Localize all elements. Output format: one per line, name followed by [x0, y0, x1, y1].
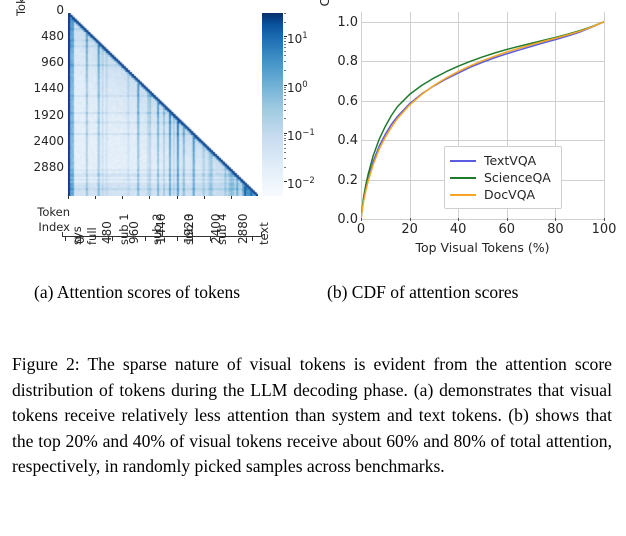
- segment-label: text: [257, 222, 271, 245]
- figure-caption: Figure 2: The sparse nature of visual to…: [12, 352, 612, 480]
- cdf-x-tick: 60: [487, 222, 527, 237]
- colorbar-tick-mark: [284, 133, 287, 134]
- cdf-y-tick: 1.0: [337, 17, 358, 28]
- colorbar-minor-tick: [284, 92, 286, 93]
- cdf-y-tick: 0.6: [337, 96, 358, 107]
- heatmap-x-tick-mark: [231, 196, 232, 199]
- cdf-x-tick-mark: [361, 218, 362, 221]
- colorbar-minor-tick: [284, 118, 286, 119]
- colorbar-minor-tick: [284, 61, 286, 62]
- colorbar-minor-tick: [284, 87, 286, 88]
- segment-label: sub 2: [150, 213, 164, 245]
- figure-2: Token Index 04809601440192024002880 0480…: [0, 0, 626, 536]
- heatmap-y-tick-labels: 04809601440192024002880: [22, 8, 64, 198]
- cdf-x-tick: 80: [535, 222, 575, 237]
- colorbar-minor-tick: [284, 148, 286, 149]
- colorbar-minor-tick: [284, 99, 286, 100]
- attention-heatmap-canvas: [68, 13, 258, 196]
- cdf-x-tick-mark: [507, 218, 508, 221]
- colorbar-minor-tick: [284, 70, 286, 71]
- colorbar-minor-tick: [284, 38, 286, 39]
- cdf-x-tick-labels: 020406080100: [342, 222, 622, 242]
- attention-heatmap: [68, 13, 258, 196]
- segment-label: sub 4: [215, 213, 229, 245]
- colorbar-minor-tick: [284, 138, 286, 139]
- colorbar-tick: 10−2: [287, 176, 315, 190]
- segment-label: sub 1: [117, 213, 131, 245]
- segment-axis-endcap: [261, 232, 262, 237]
- subcaptions: (a) Attention scores of tokens (b) CDF o…: [0, 282, 626, 308]
- colorbar-minor-tick: [284, 13, 286, 14]
- heatmap-y-tick: 2400: [33, 136, 64, 146]
- cdf-x-tick-mark: [410, 218, 411, 221]
- heatmap-x-tick-mark: [68, 196, 69, 199]
- colorbar-minor-tick: [284, 51, 286, 52]
- heatmap-segment-axis: sysfullsub 1sub 2sub 3sub 4text: [62, 236, 262, 282]
- legend-label: TextVQA: [484, 153, 536, 168]
- segment-tick-mark: [145, 236, 146, 241]
- heatmap-y-tick: 960: [41, 57, 64, 67]
- heatmap-y-tick: 1920: [33, 110, 64, 120]
- figure-panels: Token Index 04809601440192024002880 0480…: [0, 0, 626, 282]
- cdf-x-tick: 100: [584, 222, 624, 237]
- heatmap-x-axis-label: TokenIndex: [24, 205, 70, 235]
- colorbar-minor-tick: [284, 44, 286, 45]
- segment-tick-mark: [252, 236, 253, 241]
- cdf-x-axis-label: Top Visual Tokens (%): [361, 240, 604, 255]
- colorbar-minor-tick: [284, 110, 286, 111]
- cdf-gridline-vertical: [604, 12, 605, 219]
- panel-b-cdf-plot: Cumulative Attention 0.00.20.40.60.81.0 …: [312, 0, 626, 282]
- legend-color-swatch: [450, 194, 476, 196]
- cdf-x-tick: 0: [341, 222, 381, 237]
- heatmap-y-tick: 1440: [33, 83, 64, 93]
- colorbar-tick: 10−1: [287, 128, 315, 142]
- heatmap-x-tick-mark: [122, 196, 123, 199]
- subcaption-a: (a) Attention scores of tokens: [34, 282, 240, 303]
- cdf-y-tick: 0.4: [337, 135, 358, 146]
- colorbar-minor-tick: [284, 144, 286, 145]
- cdf-x-tick-mark: [458, 218, 459, 221]
- heatmap-x-tick-mark: [177, 196, 178, 199]
- cdf-x-tick-mark: [555, 218, 556, 221]
- colorbar-minor-tick: [284, 41, 286, 42]
- segment-axis-endcap: [62, 232, 63, 237]
- colorbar-tick-mark: [284, 85, 287, 86]
- colorbar-minor-tick: [284, 47, 286, 48]
- colorbar-tick-mark: [284, 36, 287, 37]
- colorbar-minor-tick: [284, 95, 286, 96]
- colorbar-minor-tick: [284, 89, 286, 90]
- cdf-legend[interactable]: TextVQAScienceQADocVQA: [444, 146, 562, 209]
- colorbar-gradient: [262, 13, 283, 196]
- subcaption-b: (b) CDF of attention scores: [327, 282, 519, 303]
- legend-item-docvqa[interactable]: DocVQA: [450, 186, 555, 203]
- legend-label: DocVQA: [484, 187, 535, 202]
- legend-color-swatch: [450, 160, 476, 162]
- cdf-x-tick-mark: [604, 218, 605, 221]
- segment-tick-mark: [112, 236, 113, 241]
- segment-label: sub 3: [182, 213, 196, 245]
- colorbar-minor-tick: [284, 167, 286, 168]
- colorbar-minor-tick: [284, 135, 286, 136]
- segment-label: full: [85, 227, 99, 245]
- panel-a-attention-heatmap: Token Index 04809601440192024002880 0480…: [0, 0, 312, 282]
- colorbar-tick: 101: [287, 31, 308, 45]
- colorbar-minor-tick: [284, 104, 286, 105]
- colorbar-tick-mark: [284, 181, 287, 182]
- legend-color-swatch: [450, 177, 476, 179]
- cdf-y-tick: 0.8: [337, 56, 358, 67]
- segment-tick-mark: [80, 236, 81, 241]
- cdf-y-tick-labels: 0.00.20.40.60.81.0: [318, 4, 358, 229]
- legend-label: ScienceQA: [484, 170, 551, 185]
- cdf-y-tick: 0.2: [337, 175, 358, 186]
- heatmap-x-tick-mark: [95, 196, 96, 199]
- colorbar-minor-tick: [284, 55, 286, 56]
- segment-tick-mark: [65, 236, 66, 241]
- heatmap-x-tick-mark: [204, 196, 205, 199]
- colorbar-minor-tick: [284, 22, 286, 23]
- colorbar-minor-tick: [284, 140, 286, 141]
- heatmap-y-tick: 0: [56, 5, 64, 15]
- segment-tick-mark: [177, 236, 178, 241]
- legend-item-scienceqa[interactable]: ScienceQA: [450, 169, 555, 186]
- legend-item-textvqa[interactable]: TextVQA: [450, 152, 555, 169]
- heatmap-y-tick: 480: [41, 31, 64, 41]
- segment-label: sys: [70, 226, 84, 245]
- segment-tick-mark: [210, 236, 211, 241]
- colorbar-tick: 100: [287, 80, 308, 94]
- heatmap-x-tick-mark: [149, 196, 150, 199]
- cdf-x-tick: 40: [438, 222, 478, 237]
- cdf-x-tick: 20: [390, 222, 430, 237]
- cdf-gridline-horizontal: [361, 219, 604, 220]
- heatmap-y-tick: 2880: [33, 162, 64, 172]
- colorbar-minor-tick: [284, 152, 286, 153]
- colorbar-minor-tick: [284, 158, 286, 159]
